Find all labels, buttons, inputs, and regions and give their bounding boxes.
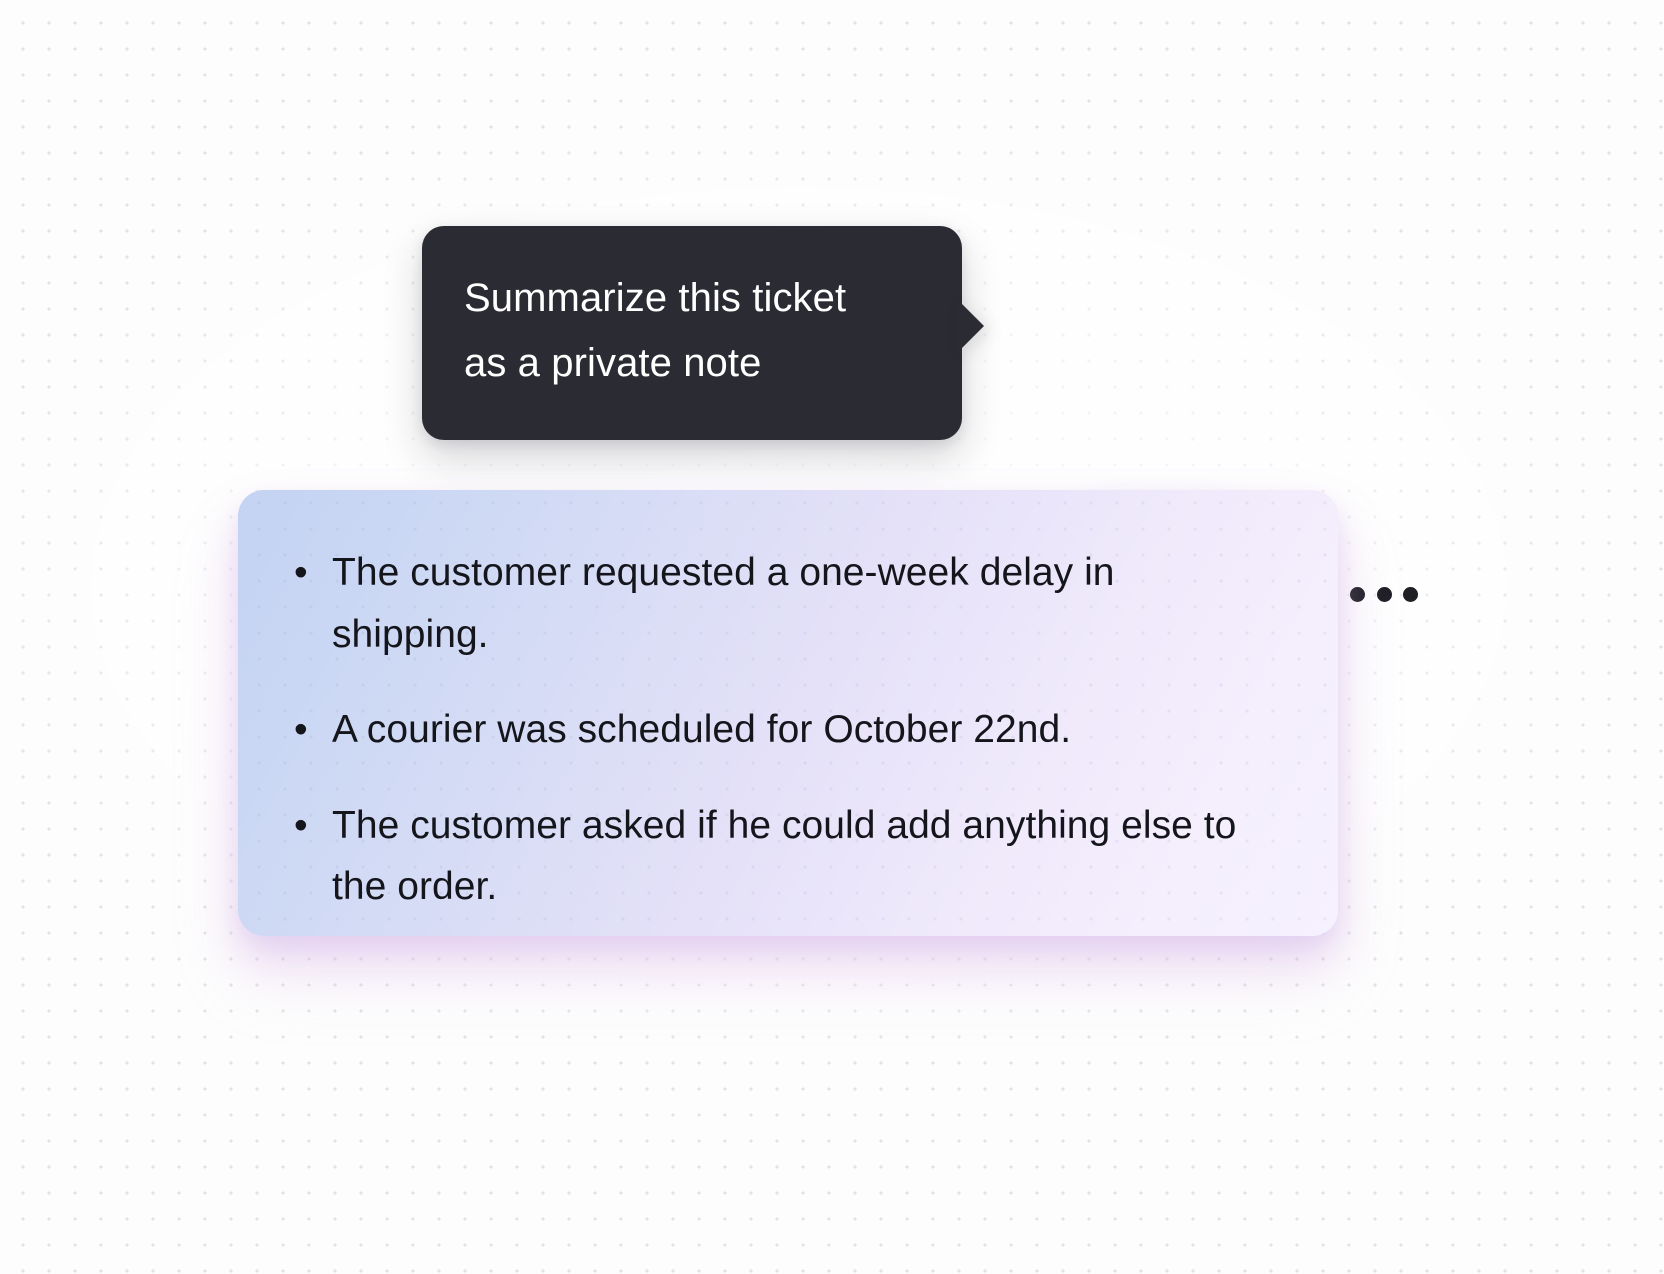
more-actions-button[interactable] [1348,566,1420,622]
ticket-action-row: Summarize this ticket as a private note [0,226,1664,426]
summary-item-text: The customer asked if he could add anyth… [332,795,1262,918]
list-item: • A courier was scheduled for October 22… [294,699,1274,761]
bullet-glyph: • [294,542,332,604]
summary-bullet-list: • The customer requested a one-week dela… [238,490,1338,936]
ellipsis-dot-2 [1377,587,1392,602]
ellipsis-horizontal-icon [1350,587,1365,602]
bullet-glyph: • [294,795,332,857]
summary-item-text: The customer requested a one-week delay … [332,542,1262,665]
ellipsis-dot-3 [1403,587,1418,602]
list-item: • The customer asked if he could add any… [294,795,1274,918]
summarize-tooltip-label: Summarize this ticket as a private note [464,266,914,396]
ai-summary-card: • The customer requested a one-week dela… [238,490,1338,936]
list-item: • The customer requested a one-week dela… [294,542,1274,665]
summary-item-text: A courier was scheduled for October 22nd… [332,699,1262,761]
bullet-glyph: • [294,699,332,761]
tooltip-tail-arrow [958,300,984,352]
summarize-tooltip: Summarize this ticket as a private note [422,226,962,440]
